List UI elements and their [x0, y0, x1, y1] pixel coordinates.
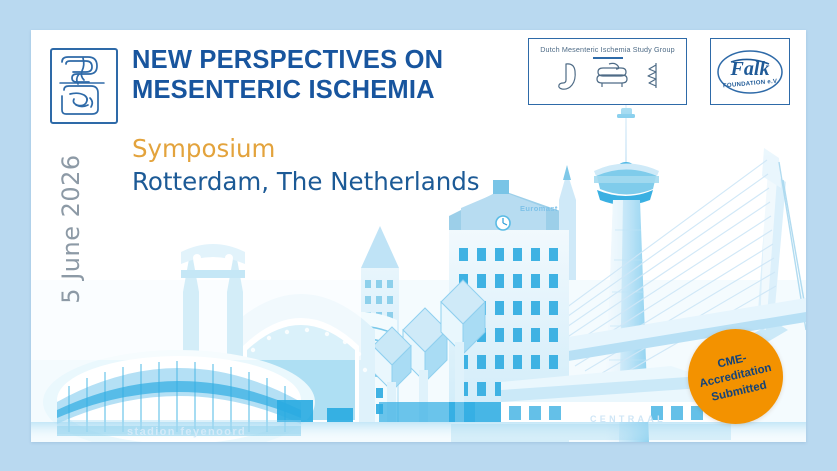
falk-foundation-logo: Falk FOUNDATION e.V. — [710, 38, 790, 105]
title-line-1: NEW PERSPECTIVES ON — [132, 46, 443, 74]
stadion-label: stadion feyenoord — [127, 426, 246, 438]
study-group-name: Dutch Mesenteric Ischemia Study Group — [529, 45, 686, 54]
event-type: Symposium — [132, 133, 562, 166]
poster-card: stadion feyenoord CENTRAAL Euromast — [31, 30, 806, 442]
stomach-icon — [555, 61, 581, 96]
cme-accreditation-badge: CME- Accreditation Submitted — [688, 329, 783, 424]
euromast-label: Euromast — [520, 204, 558, 213]
event-location: Rotterdam, The Netherlands — [132, 166, 562, 199]
title-line-2: MESENTERIC ISCHEMIA — [132, 76, 552, 106]
poster-canvas: stadion feyenoord CENTRAAL Euromast — [0, 0, 837, 471]
central-station-label: CENTRAAL — [590, 414, 666, 424]
page-title: NEW PERSPECTIVES ON MESENTERIC ISCHEMIA — [132, 46, 552, 106]
study-group-rule — [593, 57, 623, 59]
study-group-icons — [529, 61, 686, 96]
intestine-icon — [595, 61, 629, 96]
mesenteric-gut-logo — [50, 48, 118, 124]
subtitle-block: Symposium Rotterdam, The Netherlands — [132, 133, 562, 198]
study-group-logo: Dutch Mesenteric Ischemia Study Group — [528, 38, 687, 105]
event-date: 5 June 2026 — [57, 129, 85, 329]
vessel-icon — [643, 61, 661, 96]
cme-badge-text: CME- Accreditation Submitted — [695, 346, 777, 407]
